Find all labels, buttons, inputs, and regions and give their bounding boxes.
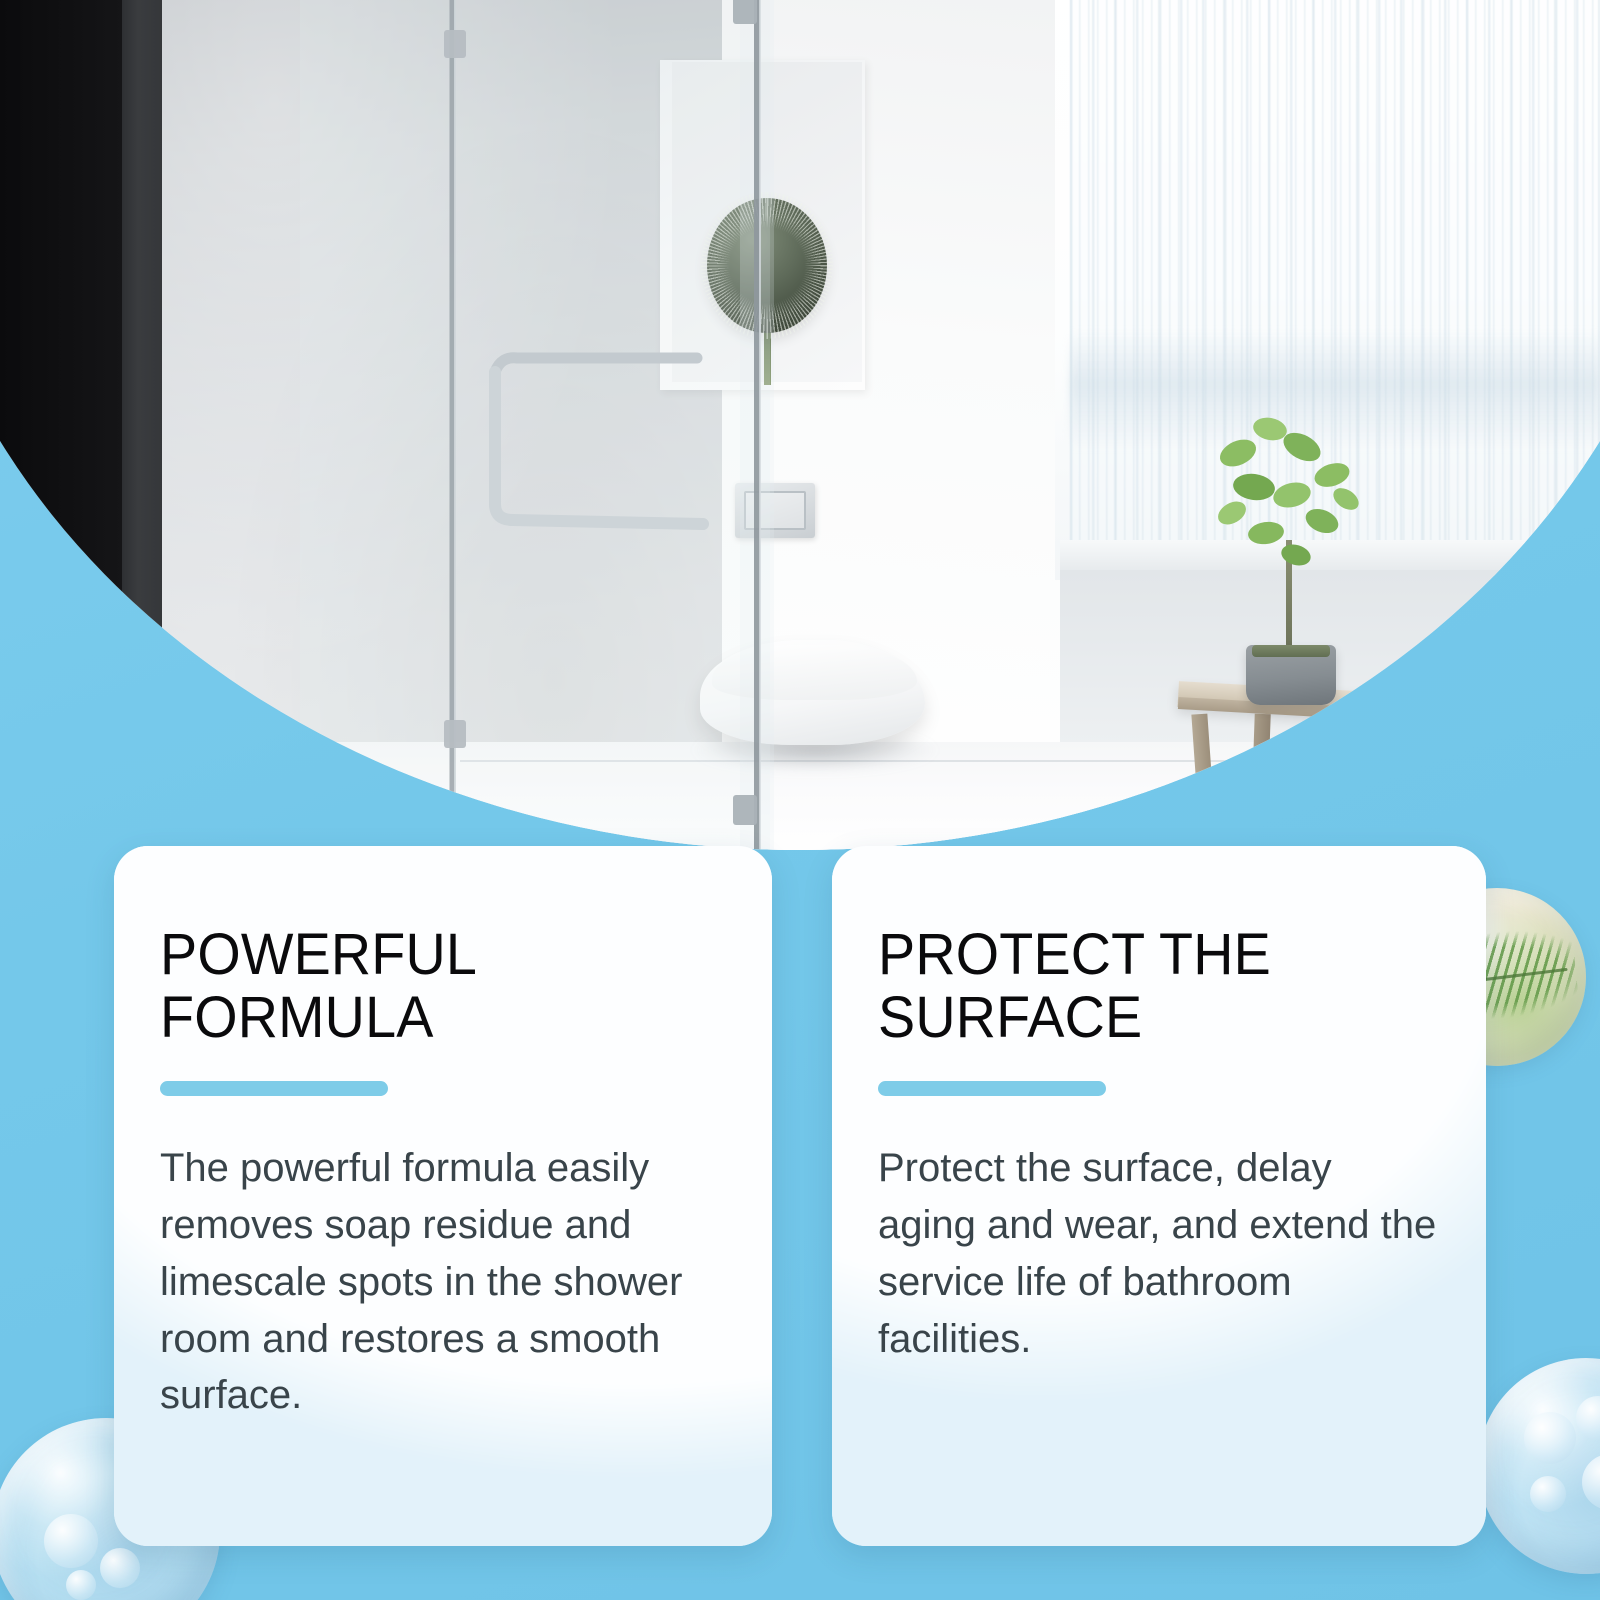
inner-bubble — [66, 1570, 96, 1600]
inner-bubble — [1582, 1454, 1600, 1510]
card-description: The powerful formula easily removes soap… — [160, 1140, 726, 1424]
bathroom-photo — [0, 0, 1600, 850]
card-content: PROTECT THE SURFACE Protect the surface,… — [832, 846, 1486, 1367]
inner-bubble — [1524, 1412, 1576, 1464]
accent-divider — [160, 1081, 388, 1096]
inner-bubble — [100, 1548, 140, 1588]
feature-card-powerful-formula: POWERFUL FORMULA The powerful formula ea… — [114, 846, 772, 1546]
glass-shower-enclosure — [0, 0, 1600, 850]
card-description: Protect the surface, delay aging and wea… — [878, 1140, 1440, 1367]
card-title: PROTECT THE SURFACE — [878, 924, 1418, 1049]
inner-bubble — [44, 1514, 98, 1568]
inner-bubble — [1576, 1396, 1600, 1440]
accent-divider — [878, 1081, 1106, 1096]
inner-bubble — [1530, 1476, 1566, 1512]
hero-photo-mask — [0, 0, 1600, 850]
card-title: POWERFUL FORMULA — [160, 924, 703, 1049]
feature-card-protect-the-surface: PROTECT THE SURFACE Protect the surface,… — [832, 846, 1486, 1546]
card-content: POWERFUL FORMULA The powerful formula ea… — [114, 846, 772, 1424]
promo-banner: POWERFUL FORMULA The powerful formula ea… — [0, 0, 1600, 1600]
